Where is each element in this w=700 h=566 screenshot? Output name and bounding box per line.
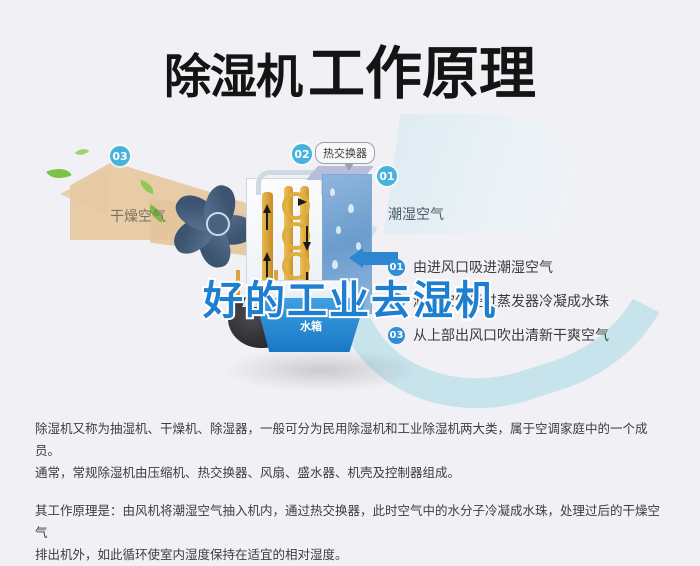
condensation-droplet	[348, 204, 354, 213]
fan-hub	[206, 212, 230, 236]
paragraph-3: 其工作原理是：由风机将潮湿空气抽入机内，通过热交换器，此时空气中的水分子冷凝成水…	[35, 500, 669, 544]
flow-arrow-down-icon	[303, 242, 311, 251]
flow-arrow-up-icon	[263, 252, 271, 261]
step-list: 01 由进风口吸进潮湿空气 02 潮湿空气经过蒸发器冷凝成水珠 03 从上部出风…	[388, 250, 688, 352]
water-tank-label: 水箱	[300, 318, 322, 334]
caption-humid-air: 潮湿空气	[388, 204, 444, 224]
step-number: 01	[388, 259, 405, 276]
heat-exchanger-callout: 热交换器	[315, 142, 375, 164]
leaf-icon	[46, 163, 71, 183]
page-title-part2: 工作原理	[308, 41, 536, 107]
list-item: 02 潮湿空气经过蒸发器冷凝成水珠	[388, 284, 688, 318]
paragraph-4: 排出机外，如此循环使室内湿度保持在适宜的相对湿度。	[35, 544, 669, 566]
condensation-droplet	[332, 260, 338, 269]
page-title-part1: 除湿机	[164, 50, 302, 105]
list-item: 03 从上部出风口吹出清新干爽空气	[388, 318, 688, 352]
description-text: 除湿机又称为抽湿机、干燥机、除湿器，一般可分为民用除湿机和工业除湿机两大类，属于…	[35, 418, 669, 566]
condensation-droplet	[336, 226, 341, 234]
flow-arrow-right-icon	[298, 198, 307, 206]
step-number: 02	[388, 293, 405, 310]
infographic-page: 除湿机工作原理	[0, 0, 700, 566]
badge-03: 03	[110, 146, 130, 166]
paragraph-spacer	[35, 484, 669, 500]
flow-arrow-up-icon	[263, 204, 271, 213]
paragraph-1: 除湿机又称为抽湿机、干燥机、除湿器，一般可分为民用除湿机和工业除湿机两大类，属于…	[35, 418, 669, 462]
paragraph-2: 通常，常规除湿机由压缩机、热交换器、风扇、盛水器、机壳及控制器组成。	[35, 462, 669, 484]
coil-loop	[282, 192, 310, 220]
flow-arrow-stem	[306, 226, 308, 242]
badge-01: 01	[377, 166, 397, 186]
step-text: 由进风口吸进潮湿空气	[413, 257, 553, 277]
condensation-droplet	[350, 278, 355, 286]
step-text: 从上部出风口吹出清新干爽空气	[413, 325, 609, 345]
leaf-icon	[75, 145, 89, 159]
flow-arrow-stem	[266, 212, 268, 230]
condensation-droplet	[330, 188, 335, 196]
step-text: 潮湿空气经过蒸发器冷凝成水珠	[413, 291, 609, 311]
caption-dry-air: 干燥空气	[110, 206, 166, 226]
page-title: 除湿机工作原理	[0, 28, 700, 110]
list-item: 01 由进风口吸进潮湿空气	[388, 250, 688, 284]
badge-02: 02	[292, 144, 312, 164]
step-number: 03	[388, 327, 405, 344]
machine-shadow	[222, 348, 422, 392]
